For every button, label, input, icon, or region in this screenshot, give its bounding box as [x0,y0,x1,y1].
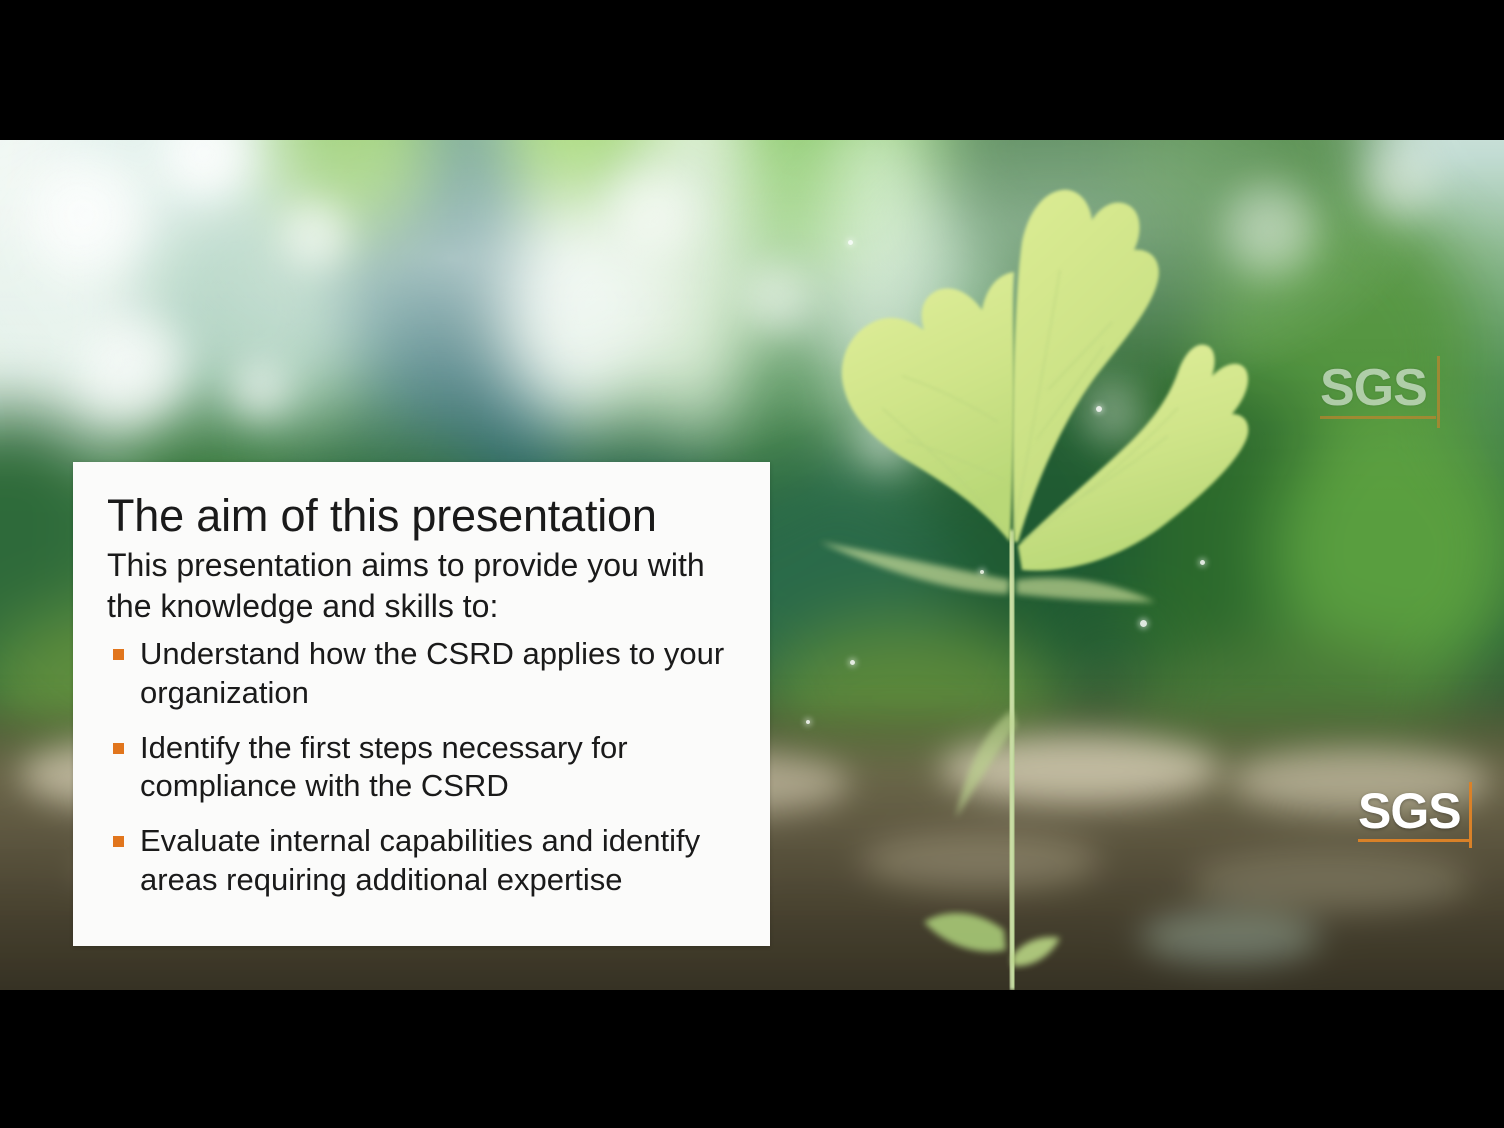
sgs-accent-rule [1358,839,1470,842]
list-item-label: Understand how the CSRD applies to your … [140,636,724,710]
page-title: The aim of this presentation [107,492,742,539]
video-stage: The aim of this presentation This presen… [0,0,1504,1128]
slide-content-card: The aim of this presentation This presen… [73,462,770,946]
slide-frame: The aim of this presentation This presen… [0,140,1504,990]
list-item: Understand how the CSRD applies to your … [107,635,742,713]
square-bullet-icon [113,649,124,660]
list-item: Identify the first steps necessary for c… [107,729,742,807]
sgs-wordmark: SGS [1358,786,1470,836]
list-item-label: Evaluate internal capabilities and ident… [140,823,700,897]
sgs-logo-top: SGS [1320,362,1436,419]
slide-intro-text: This presentation aims to provide you wi… [107,545,707,627]
sgs-wordmark: SGS [1320,362,1436,414]
list-item: Evaluate internal capabilities and ident… [107,822,742,900]
list-item-label: Identify the first steps necessary for c… [140,730,628,804]
sgs-accent-rule [1320,416,1436,419]
sgs-accent-tick [1469,782,1472,848]
sgs-accent-tick [1437,356,1440,428]
square-bullet-icon [113,743,124,754]
square-bullet-icon [113,836,124,847]
sgs-logo-bottom: SGS [1358,786,1470,842]
objectives-list: Understand how the CSRD applies to your … [107,635,742,900]
